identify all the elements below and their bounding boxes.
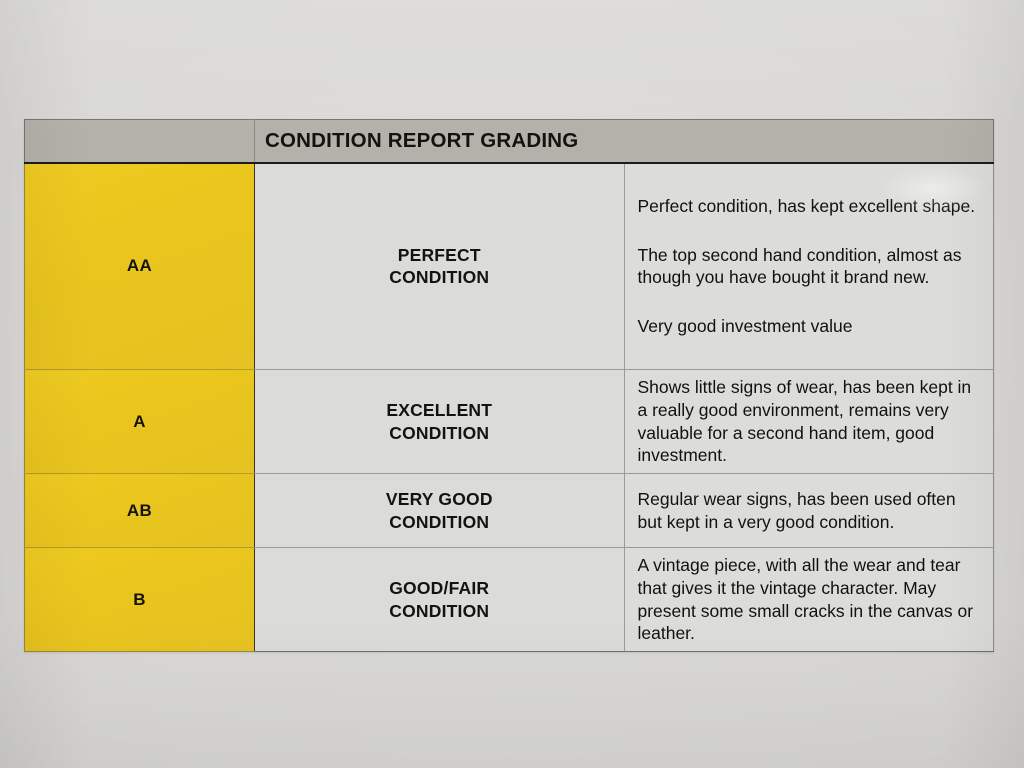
document-page: CONDITION REPORT GRADING AA PERFECT COND… xyxy=(0,0,1024,768)
description-paragraph: Very good investment value xyxy=(638,315,980,338)
grade-label: A xyxy=(133,412,146,431)
condition-label-line2: CONDITION xyxy=(261,266,618,288)
grade-cell-ab: AB xyxy=(25,474,255,548)
description-text: Regular wear signs, has been used often … xyxy=(638,488,980,534)
table-row: AA PERFECT CONDITION Perfect condition, … xyxy=(25,163,994,370)
condition-label-line2: CONDITION xyxy=(261,422,618,444)
header-grade-column-cell xyxy=(25,120,255,163)
grade-cell-aa: AA xyxy=(25,163,255,370)
condition-label: GOOD/FAIR CONDITION xyxy=(261,577,618,621)
condition-label-line1: VERY GOOD xyxy=(261,488,618,510)
description-paragraph: Perfect condition, has kept excellent sh… xyxy=(638,195,980,218)
description-paragraph: The top second hand condition, almost as… xyxy=(638,244,980,290)
condition-label-line1: GOOD/FAIR xyxy=(261,577,618,599)
description-paragraph: Regular wear signs, has been used often … xyxy=(638,488,980,534)
table-header-row: CONDITION REPORT GRADING xyxy=(25,120,994,163)
description-text: A vintage piece, with all the wear and t… xyxy=(638,554,980,645)
description-paragraph: Shows little signs of wear, has been kep… xyxy=(638,376,980,467)
table-row: AB VERY GOOD CONDITION Regular wear sign… xyxy=(25,474,994,548)
condition-cell-ab: VERY GOOD CONDITION xyxy=(255,474,625,548)
table-row: A EXCELLENT CONDITION Shows little signs… xyxy=(25,370,994,474)
description-paragraph: A vintage piece, with all the wear and t… xyxy=(638,554,980,645)
condition-label-line1: PERFECT xyxy=(261,244,618,266)
condition-label: EXCELLENT CONDITION xyxy=(261,399,618,443)
grade-label: B xyxy=(133,590,146,609)
description-cell-a: Shows little signs of wear, has been kep… xyxy=(624,370,994,474)
condition-label-line1: EXCELLENT xyxy=(261,399,618,421)
grade-cell-b: B xyxy=(25,548,255,652)
grade-label: AA xyxy=(127,256,152,275)
grade-cell-a: A xyxy=(25,370,255,474)
condition-label: PERFECT CONDITION xyxy=(261,244,618,288)
header-title-cell: CONDITION REPORT GRADING xyxy=(255,120,994,163)
description-cell-b: A vintage piece, with all the wear and t… xyxy=(624,548,994,652)
condition-label-line2: CONDITION xyxy=(261,511,618,533)
description-cell-ab: Regular wear signs, has been used often … xyxy=(624,474,994,548)
page-title: CONDITION REPORT GRADING xyxy=(265,129,578,152)
description-text: Perfect condition, has kept excellent sh… xyxy=(638,195,980,338)
description-cell-aa: Perfect condition, has kept excellent sh… xyxy=(624,163,994,370)
table-row: B GOOD/FAIR CONDITION A vintage piece, w… xyxy=(25,548,994,652)
condition-cell-aa: PERFECT CONDITION xyxy=(255,163,625,370)
condition-cell-b: GOOD/FAIR CONDITION xyxy=(255,548,625,652)
condition-cell-a: EXCELLENT CONDITION xyxy=(255,370,625,474)
grade-label: AB xyxy=(127,501,152,520)
description-text: Shows little signs of wear, has been kep… xyxy=(638,376,980,467)
condition-report-grading-table: CONDITION REPORT GRADING AA PERFECT COND… xyxy=(24,119,994,652)
condition-label: VERY GOOD CONDITION xyxy=(261,488,618,532)
condition-label-line2: CONDITION xyxy=(261,600,618,622)
